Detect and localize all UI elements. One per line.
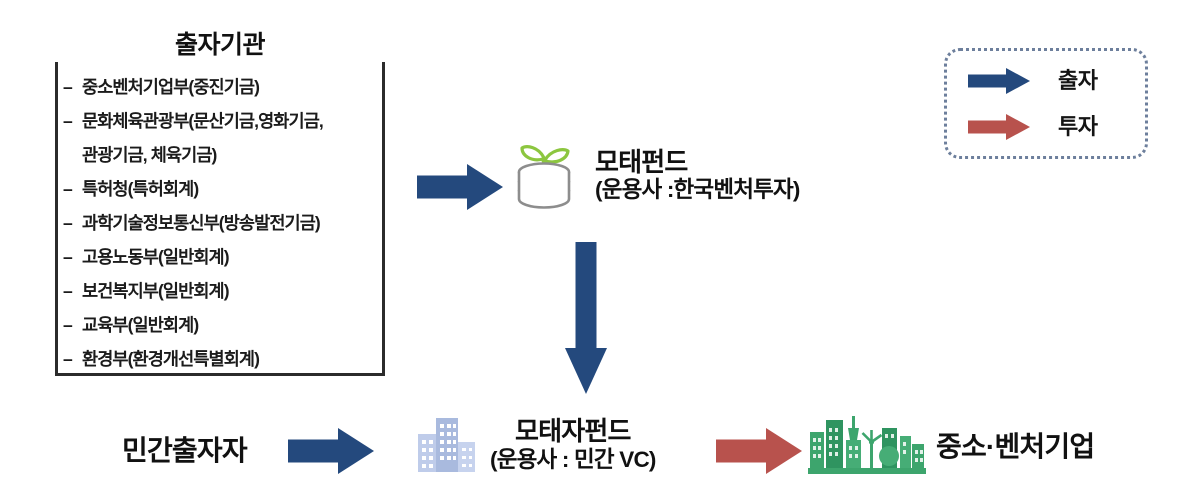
bullet-dash: – <box>63 70 82 104</box>
list-item: – 교육부(일반회계) <box>63 308 385 342</box>
diagram-canvas: 출자기관 – 중소벤처기업부(중진기금) – 문화체육관광부(문산기금,영화기금… <box>0 0 1192 494</box>
smes-node: 중소·벤처기업 <box>808 414 1094 476</box>
legend-box <box>944 48 1148 159</box>
bullet-dash: – <box>63 240 82 274</box>
down-arrow-icon-fund-to-subfund <box>565 242 607 394</box>
list-item: – 고용노동부(일반회계) <box>63 240 385 274</box>
legend-item-investment: 투자 <box>968 112 1097 142</box>
sub-fund-subtitle: (운용사 : 민간 VC) <box>490 447 656 473</box>
sub-fund-node: 모태자펀드 (운용사 : 민간 VC) <box>410 412 656 478</box>
bullet-dash: – <box>63 104 82 138</box>
mother-fund-subtitle: (운용사 :한국벤처투자) <box>595 177 800 203</box>
list-item: – 문화체육관광부(문산기금,영화기금, <box>63 104 385 138</box>
sub-fund-title: 모태자펀드 <box>490 417 656 447</box>
list-item-label: 중소벤처기업부(중진기금) <box>82 70 385 104</box>
legend-label-equity: 출자 <box>1058 66 1097 96</box>
mother-fund-node: 모태펀드 (운용사 :한국벤처투자) <box>505 134 800 216</box>
office-buildings-icon <box>410 412 482 478</box>
private-investor-label: 민간출자자 <box>122 428 247 474</box>
list-item-continuation: 관광기금, 체육기금) <box>82 138 385 172</box>
list-item: – 중소벤처기업부(중진기금) <box>63 70 385 104</box>
smes-label: 중소·벤처기업 <box>936 425 1094 465</box>
list-item-label: 교육부(일반회계) <box>82 308 385 342</box>
list-item-label: 문화체육관광부(문산기금,영화기금, <box>82 104 385 138</box>
funding-agencies-title: 출자기관 <box>55 28 385 62</box>
list-item-label: 보건복지부(일반회계) <box>82 274 385 308</box>
right-arrow-icon-subfund-to-smes <box>716 428 802 474</box>
list-item-label: 환경부(환경개선특별회계) <box>82 342 385 376</box>
right-arrow-icon-agency-to-fund <box>417 164 503 210</box>
legend-label-investment: 투자 <box>1058 112 1097 142</box>
list-item: – 보건복지부(일반회계) <box>63 274 385 308</box>
funding-agencies-list: – 중소벤처기업부(중진기금) – 문화체육관광부(문산기금,영화기금, 관광기… <box>63 70 385 376</box>
mother-fund-label: 모태펀드 (운용사 :한국벤처투자) <box>595 147 800 203</box>
bullet-dash: – <box>63 274 82 308</box>
right-arrow-icon <box>968 68 1030 94</box>
bullet-dash: – <box>63 172 82 206</box>
bullet-dash: – <box>63 308 82 342</box>
list-item: – 특허청(특허회계) <box>63 172 385 206</box>
city-skyline-icon <box>808 414 926 476</box>
bullet-dash: – <box>63 206 82 240</box>
coin-stack-sprout-icon <box>505 134 583 216</box>
bullet-dash: – <box>63 342 82 376</box>
legend-item-equity: 출자 <box>968 66 1097 96</box>
sub-fund-label: 모태자펀드 (운용사 : 민간 VC) <box>490 417 656 472</box>
right-arrow-icon-private-to-subfund <box>288 428 374 474</box>
mother-fund-title: 모태펀드 <box>595 147 800 177</box>
list-item-label: 과학기술정보통신부(방송발전기금) <box>82 206 385 240</box>
right-arrow-icon <box>968 114 1030 140</box>
list-item: – 과학기술정보통신부(방송발전기금) <box>63 206 385 240</box>
list-item-label: 특허청(특허회계) <box>82 172 385 206</box>
list-item-label: 고용노동부(일반회계) <box>82 240 385 274</box>
list-item: – 환경부(환경개선특별회계) <box>63 342 385 376</box>
